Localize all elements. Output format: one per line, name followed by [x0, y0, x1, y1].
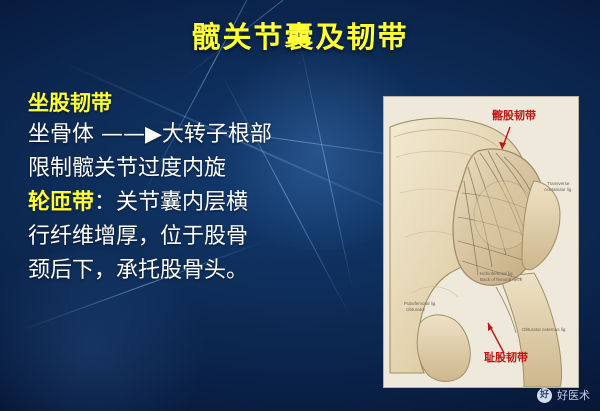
figure-small-label-0: Transverse: [547, 181, 569, 186]
anatomy-figure: 髂股韧带 耻股韧带 Transverse Acetabular lig. Isc…: [383, 96, 579, 388]
figure-small-label-6: Obturator externus lig.: [522, 327, 567, 332]
body-line-1: 坐骨体 ——▶大转子根部: [28, 118, 373, 152]
body-line-3: 轮匝带：关节囊内层横: [28, 186, 373, 220]
figure-small-label-4: Pubofemoral lig.: [404, 301, 437, 306]
hip-joint-illustration: [384, 97, 578, 387]
watermark: 好 好医术: [537, 387, 590, 403]
figure-label-pubofemoral: 耻股韧带: [484, 349, 528, 365]
highlight-term: 轮匝带: [28, 190, 94, 215]
figure-small-label-5: Obturator: [406, 307, 425, 312]
figure-small-label-2: Ischiofemoral lig.: [480, 271, 514, 276]
body-line-5: 颈后下，承托股骨头。: [28, 254, 373, 288]
highlight-rest: ：关节囊内层横: [94, 190, 248, 215]
sub-heading: 坐股韧带: [28, 88, 373, 118]
figure-small-label-1: Acetabular lig.: [544, 187, 573, 192]
slide: 髋关节囊及韧带 坐股韧带 坐骨体 ——▶大转子根部 限制髋关节过度内旋 轮匝带：…: [0, 0, 600, 411]
figure-small-label-3: Back of femoral neck: [480, 277, 522, 282]
watermark-text: 好医术: [557, 387, 590, 403]
body-line-2: 限制髋关节过度内旋: [28, 152, 373, 186]
figure-label-iliofemoral: 髂股韧带: [492, 107, 536, 123]
body-text: 坐股韧带 坐骨体 ——▶大转子根部 限制髋关节过度内旋 轮匝带：关节囊内层横 行…: [28, 88, 373, 288]
watermark-logo-icon: 好: [537, 388, 552, 403]
body-line-4: 行纤维增厚，位于股骨: [28, 220, 373, 254]
page-title: 髋关节囊及韧带: [0, 14, 600, 56]
